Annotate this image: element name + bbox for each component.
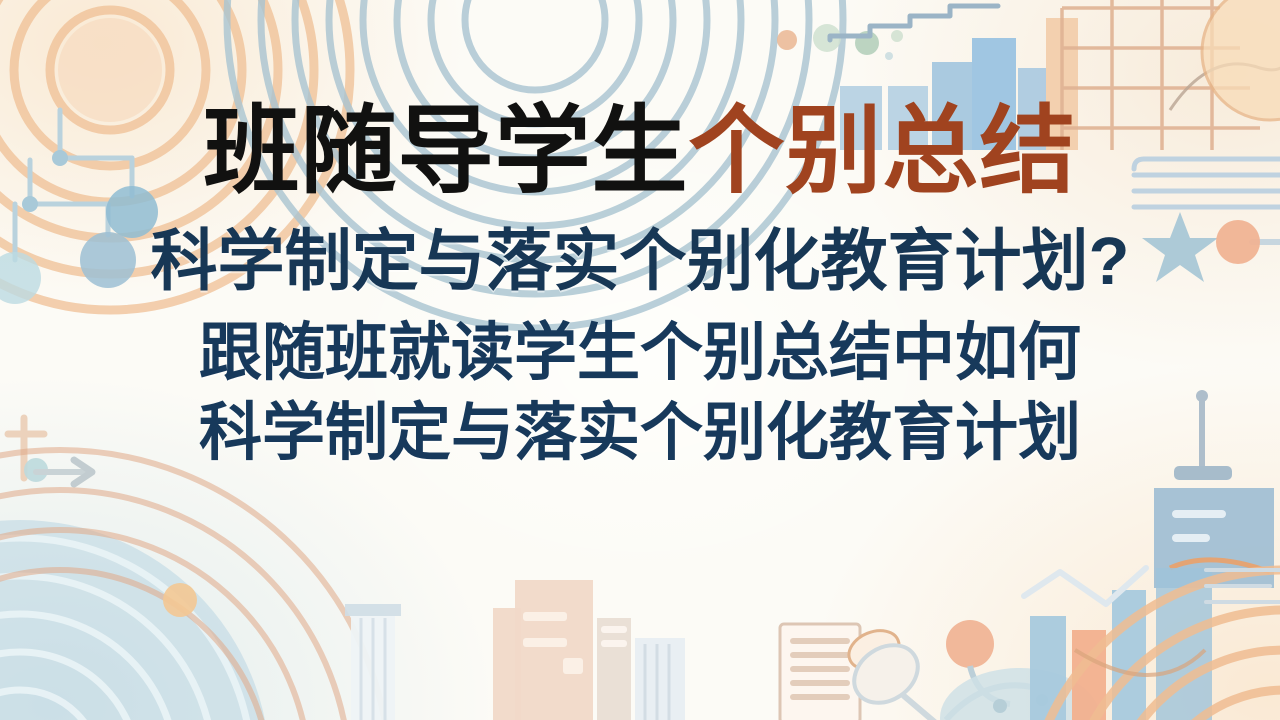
bottom-right-blue-blob <box>860 600 1120 720</box>
right-edge-lines <box>1200 560 1280 620</box>
title-accent-segment: 个别总结 <box>689 104 1077 200</box>
bottom-right-warm-rings <box>955 530 1280 720</box>
bottom-left-warm-rings <box>0 470 530 720</box>
bottom-center-buildings <box>345 548 685 720</box>
body-line-2: 科学制定与落实个别化教育计划 <box>199 394 1081 473</box>
question-line: 科学制定与落实个别化教育计划? <box>151 226 1130 298</box>
body-line-1: 跟随班就读学生个别总结中如何 <box>199 314 1081 393</box>
top-right-dots <box>775 18 905 68</box>
bottom-center-document <box>770 618 960 720</box>
poster-text-block: 班随导学生 个别总结 科学制定与落实个别化教育计划? 跟随班就读学生个别总结中如… <box>0 104 1280 473</box>
body-block: 跟随班就读学生个别总结中如何 科学制定与落实个别化教育计划 <box>199 314 1081 473</box>
bottom-right-bar-chart <box>1020 568 1220 720</box>
page-title: 班随导学生 个别总结 <box>204 104 1077 200</box>
poster-canvas: 班随导学生 个别总结 科学制定与落实个别化教育计划? 跟随班就读学生个别总结中如… <box>0 0 1280 720</box>
bottom-left-blue-rings <box>0 440 470 720</box>
title-dark-segment: 班随导学生 <box>204 104 689 200</box>
